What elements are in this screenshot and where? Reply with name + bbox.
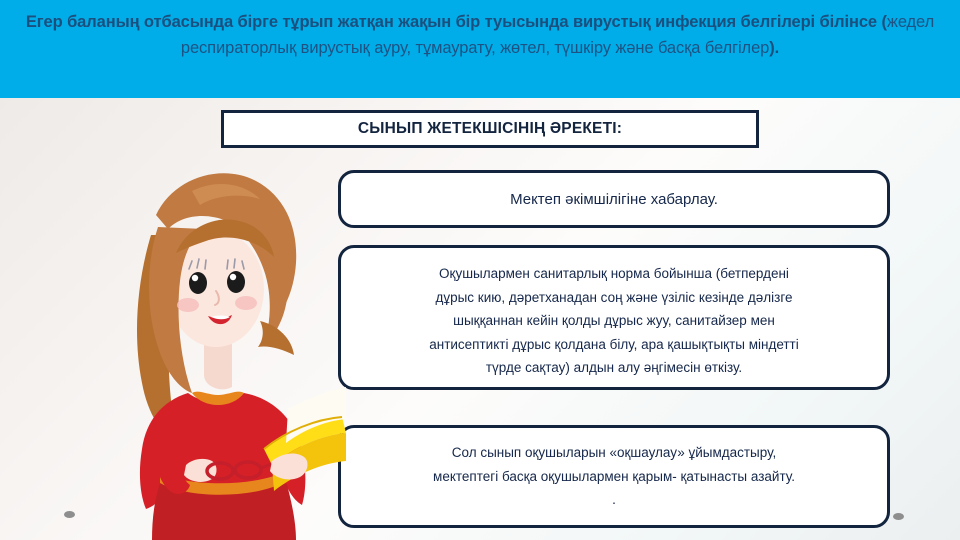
- decorative-dot-right: [893, 513, 904, 520]
- box-sanitary-norms-talk: Оқушылармен санитарлық норма бойынша (бе…: [338, 245, 890, 390]
- header-line-1: Егер баланың отбасында бірге тұрып жатқа…: [26, 13, 651, 31]
- header-line-3-normal: жөтел, түшкіру және басқа белгілер: [500, 39, 769, 57]
- slide-canvas: Егер баланың отбасында бірге тұрып жатқа…: [0, 0, 960, 540]
- eye-left: [189, 272, 207, 294]
- header-line-3-bold: ).: [769, 39, 779, 57]
- box-sanitary-norms-talk-text: Оқушылармен санитарлық норма бойынша (бе…: [415, 248, 813, 380]
- blush-left: [177, 298, 199, 312]
- blush-right: [235, 296, 257, 310]
- header-banner: Егер баланың отбасында бірге тұрып жатқа…: [0, 0, 960, 98]
- box-notify-administration: Мектеп әкімшілігіне хабарлау.: [338, 170, 890, 228]
- box-notify-administration-text: Мектеп әкімшілігіне хабарлау.: [496, 188, 732, 211]
- box-organize-isolation-text: Сол сынып оқушыларын «оқшаулау» ұйымдаст…: [419, 428, 809, 512]
- header-text: Егер баланың отбасында бірге тұрып жатқа…: [18, 9, 942, 61]
- eye-left-highlight: [192, 275, 198, 281]
- eye-right-highlight: [230, 274, 236, 280]
- eye-right: [227, 271, 245, 293]
- header-line-2-bold: инфекция белгілері білінсе (: [655, 13, 887, 31]
- page-title: СЫНЫП ЖЕТЕКШІСІНІҢ ӘРЕКЕТІ:: [358, 120, 622, 138]
- box-organize-isolation: Сол сынып оқушыларын «оқшаулау» ұйымдаст…: [338, 425, 890, 528]
- teacher-illustration: [96, 143, 346, 540]
- decorative-dot-left: [64, 511, 75, 518]
